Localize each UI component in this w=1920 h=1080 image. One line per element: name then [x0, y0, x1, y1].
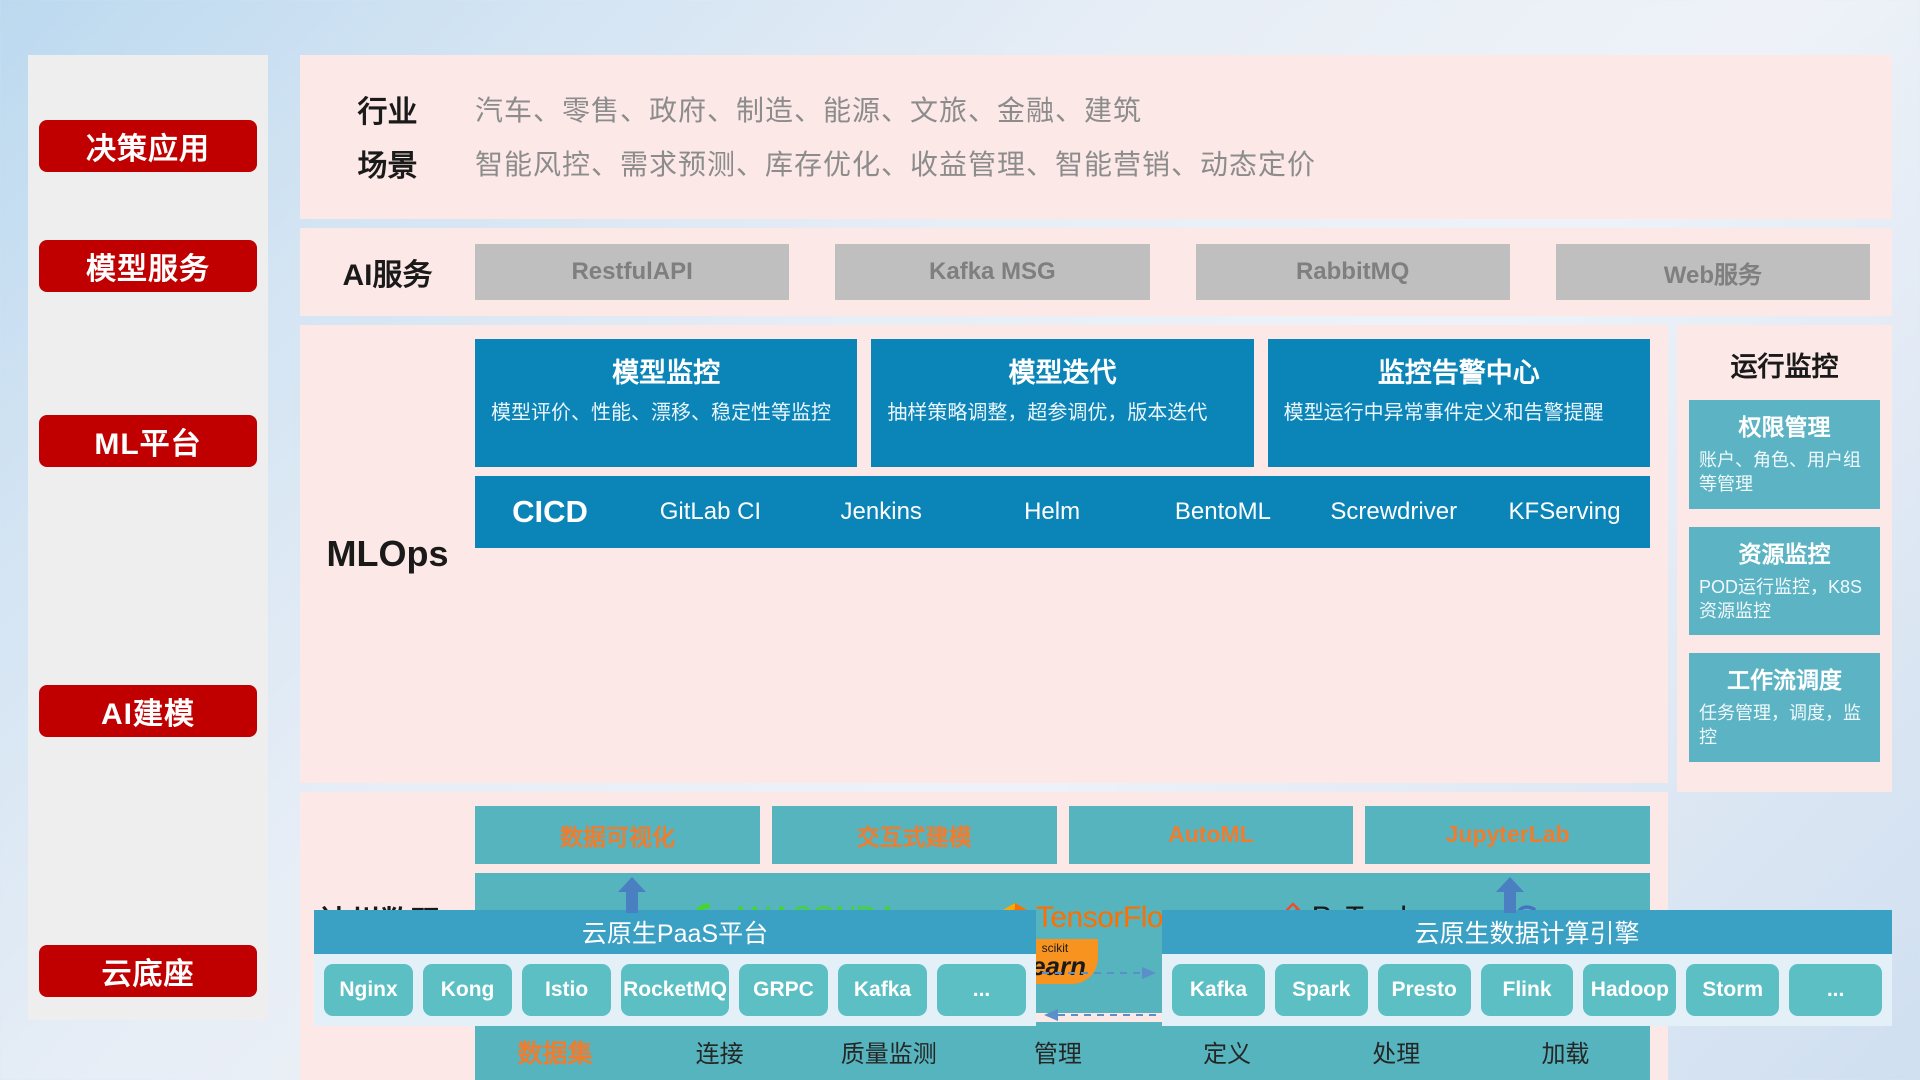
- card-title: 工作流调度: [1699, 661, 1870, 695]
- ai-service-band: AI服务 RestfulAPI Kafka MSG RabbitMQ Web服务: [300, 228, 1892, 316]
- engine-chip-kafka[interactable]: Kafka: [1172, 964, 1265, 1016]
- industry-key: 行业: [300, 87, 475, 131]
- mlops-card-model-monitoring[interactable]: 模型监控 模型评价、性能、漂移、稳定性等监控: [475, 339, 857, 467]
- ai-service-chip-list: RestfulAPI Kafka MSG RabbitMQ Web服务: [475, 244, 1892, 300]
- tool-tab-interactive-modeling[interactable]: 交互式建模: [772, 806, 1057, 864]
- mlops-content: 模型监控 模型评价、性能、漂移、稳定性等监控 模型迭代 抽样策略调整，超参调优，…: [475, 339, 1668, 769]
- card-desc: 抽样策略调整，超参调优，版本迭代: [887, 400, 1237, 427]
- ai-service-label: AI服务: [300, 250, 475, 294]
- engine-title: 云原生数据计算引擎: [1162, 910, 1892, 954]
- paas-title: 云原生PaaS平台: [314, 910, 1036, 954]
- scenario-key: 场景: [300, 141, 475, 185]
- tool-tab-data-visualization[interactable]: 数据可视化: [475, 806, 760, 864]
- paas-chip-istio[interactable]: Istio: [522, 964, 611, 1016]
- cicd-label: CICD: [475, 494, 625, 530]
- engine-chip-spark[interactable]: Spark: [1275, 964, 1368, 1016]
- tool-tab-jupyterlab[interactable]: JupyterLab: [1365, 806, 1650, 864]
- card-desc: 模型运行中异常事件定义和告警提醒: [1284, 400, 1634, 427]
- tool-tab-automl[interactable]: AutoML: [1069, 806, 1354, 864]
- card-title: 模型迭代: [887, 351, 1237, 390]
- rail-item-label: 云底座: [102, 949, 195, 993]
- paas-chip-more[interactable]: ...: [937, 964, 1026, 1016]
- monitor-card-resource-monitoring[interactable]: 资源监控 POD运行监控，K8S资源监控: [1689, 527, 1880, 636]
- cicd-item-helm[interactable]: Helm: [967, 498, 1138, 526]
- runtime-monitor-column: 运行监控 权限管理 账户、角色、用户组等管理 资源监控 POD运行监控，K8S资…: [1677, 325, 1892, 792]
- card-desc: 模型评价、性能、漂移、稳定性等监控: [491, 400, 841, 427]
- card-title: 监控告警中心: [1284, 351, 1634, 390]
- industry-value: 汽车、零售、政府、制造、能源、文旅、金融、建筑: [475, 89, 1142, 129]
- mlops-band: MLOps 模型监控 模型评价、性能、漂移、稳定性等监控 模型迭代 抽样策略调整…: [300, 325, 1668, 783]
- paas-chip-list: Nginx Kong Istio RocketMQ GRPC Kafka ...: [314, 954, 1036, 1026]
- paas-chip-rocketmq[interactable]: RocketMQ: [621, 964, 729, 1016]
- card-title: 资源监控: [1699, 535, 1870, 569]
- rail-item-cloud-base[interactable]: 云底座: [39, 945, 257, 997]
- rail-item-ai-modeling[interactable]: AI建模: [39, 685, 257, 737]
- rail-item-decision-app[interactable]: 决策应用: [39, 120, 257, 172]
- cicd-item-jenkins[interactable]: Jenkins: [796, 498, 967, 526]
- cloud-base-band: 云原生PaaS平台 Nginx Kong Istio RocketMQ GRPC…: [300, 880, 1892, 1040]
- cicd-item-bentoml[interactable]: BentoML: [1137, 498, 1308, 526]
- left-layer-rail: 决策应用 模型服务 ML平台 AI建模 云底座: [28, 55, 268, 1020]
- engine-chip-flink[interactable]: Flink: [1481, 964, 1574, 1016]
- paas-chip-grpc[interactable]: GRPC: [739, 964, 828, 1016]
- paas-chip-kong[interactable]: Kong: [423, 964, 512, 1016]
- mlops-card-model-iteration[interactable]: 模型迭代 抽样策略调整，超参调优，版本迭代: [871, 339, 1253, 467]
- ai-service-chip-restfulapi[interactable]: RestfulAPI: [475, 244, 789, 300]
- cicd-item-screwdriver[interactable]: Screwdriver: [1308, 498, 1479, 526]
- cloud-native-compute-engine-group: 云原生数据计算引擎 Kafka Spark Presto Flink Hadoo…: [1162, 910, 1892, 1026]
- rail-item-model-service[interactable]: 模型服务: [39, 240, 257, 292]
- industry-scenario-band: 行业 汽车、零售、政府、制造、能源、文旅、金融、建筑 场景 智能风控、需求预测、…: [300, 55, 1892, 219]
- industry-row: 行业 汽车、零售、政府、制造、能源、文旅、金融、建筑: [300, 87, 1892, 131]
- ai-service-chip-kafka-msg[interactable]: Kafka MSG: [835, 244, 1149, 300]
- cicd-item-gitlab-ci[interactable]: GitLab CI: [625, 498, 796, 526]
- paas-chip-kafka[interactable]: Kafka: [838, 964, 927, 1016]
- scenario-row: 场景 智能风控、需求预测、库存优化、收益管理、智能营销、动态定价: [300, 141, 1892, 185]
- ml-lab-tool-tabs: 数据可视化 交互式建模 AutoML JupyterLab: [475, 806, 1650, 864]
- rail-item-label: ML平台: [94, 419, 201, 463]
- paas-up-arrow-icon: [614, 877, 650, 913]
- rail-item-ml-platform[interactable]: ML平台: [39, 415, 257, 467]
- cicd-bar: CICD GitLab CI Jenkins Helm BentoML Scre…: [475, 476, 1650, 548]
- card-title: 模型监控: [491, 351, 841, 390]
- card-title: 权限管理: [1699, 408, 1870, 442]
- mlops-and-monitor-row: MLOps 模型监控 模型评价、性能、漂移、稳定性等监控 模型迭代 抽样策略调整…: [300, 325, 1892, 792]
- rail-item-label: AI建模: [101, 689, 195, 733]
- engine-up-arrow-icon: [1492, 877, 1528, 913]
- engine-chip-hadoop[interactable]: Hadoop: [1583, 964, 1676, 1016]
- rail-item-label: 模型服务: [86, 244, 210, 288]
- ai-service-chip-rabbitmq[interactable]: RabbitMQ: [1196, 244, 1510, 300]
- card-desc: 账户、角色、用户组等管理: [1699, 448, 1870, 497]
- cloud-native-paas-group: 云原生PaaS平台 Nginx Kong Istio RocketMQ GRPC…: [314, 910, 1036, 1026]
- card-desc: 任务管理，调度，监控: [1699, 701, 1870, 750]
- mlops-card-list: 模型监控 模型评价、性能、漂移、稳定性等监控 模型迭代 抽样策略调整，超参调优，…: [475, 339, 1650, 467]
- engine-chip-presto[interactable]: Presto: [1378, 964, 1471, 1016]
- ai-service-chip-web-service[interactable]: Web服务: [1556, 244, 1870, 300]
- mlops-label: MLOps: [300, 339, 475, 769]
- cicd-item-kfserving[interactable]: KFServing: [1479, 498, 1650, 526]
- monitor-card-permission-management[interactable]: 权限管理 账户、角色、用户组等管理: [1689, 400, 1880, 509]
- runtime-monitor-title: 运行监控: [1689, 345, 1880, 384]
- link-arrow-left-icon: [1042, 1008, 1158, 1022]
- engine-chip-storm[interactable]: Storm: [1686, 964, 1779, 1016]
- rail-item-label: 决策应用: [86, 124, 210, 168]
- scenario-value: 智能风控、需求预测、库存优化、收益管理、智能营销、动态定价: [475, 143, 1316, 183]
- engine-chip-list: Kafka Spark Presto Flink Hadoop Storm ..…: [1162, 954, 1892, 1026]
- engine-chip-more[interactable]: ...: [1789, 964, 1882, 1016]
- mlops-card-alert-center[interactable]: 监控告警中心 模型运行中异常事件定义和告警提醒: [1268, 339, 1650, 467]
- paas-chip-nginx[interactable]: Nginx: [324, 964, 413, 1016]
- card-desc: POD运行监控，K8S资源监控: [1699, 575, 1870, 624]
- monitor-card-workflow-scheduling[interactable]: 工作流调度 任务管理，调度，监控: [1689, 653, 1880, 762]
- link-arrow-right-icon: [1042, 966, 1158, 980]
